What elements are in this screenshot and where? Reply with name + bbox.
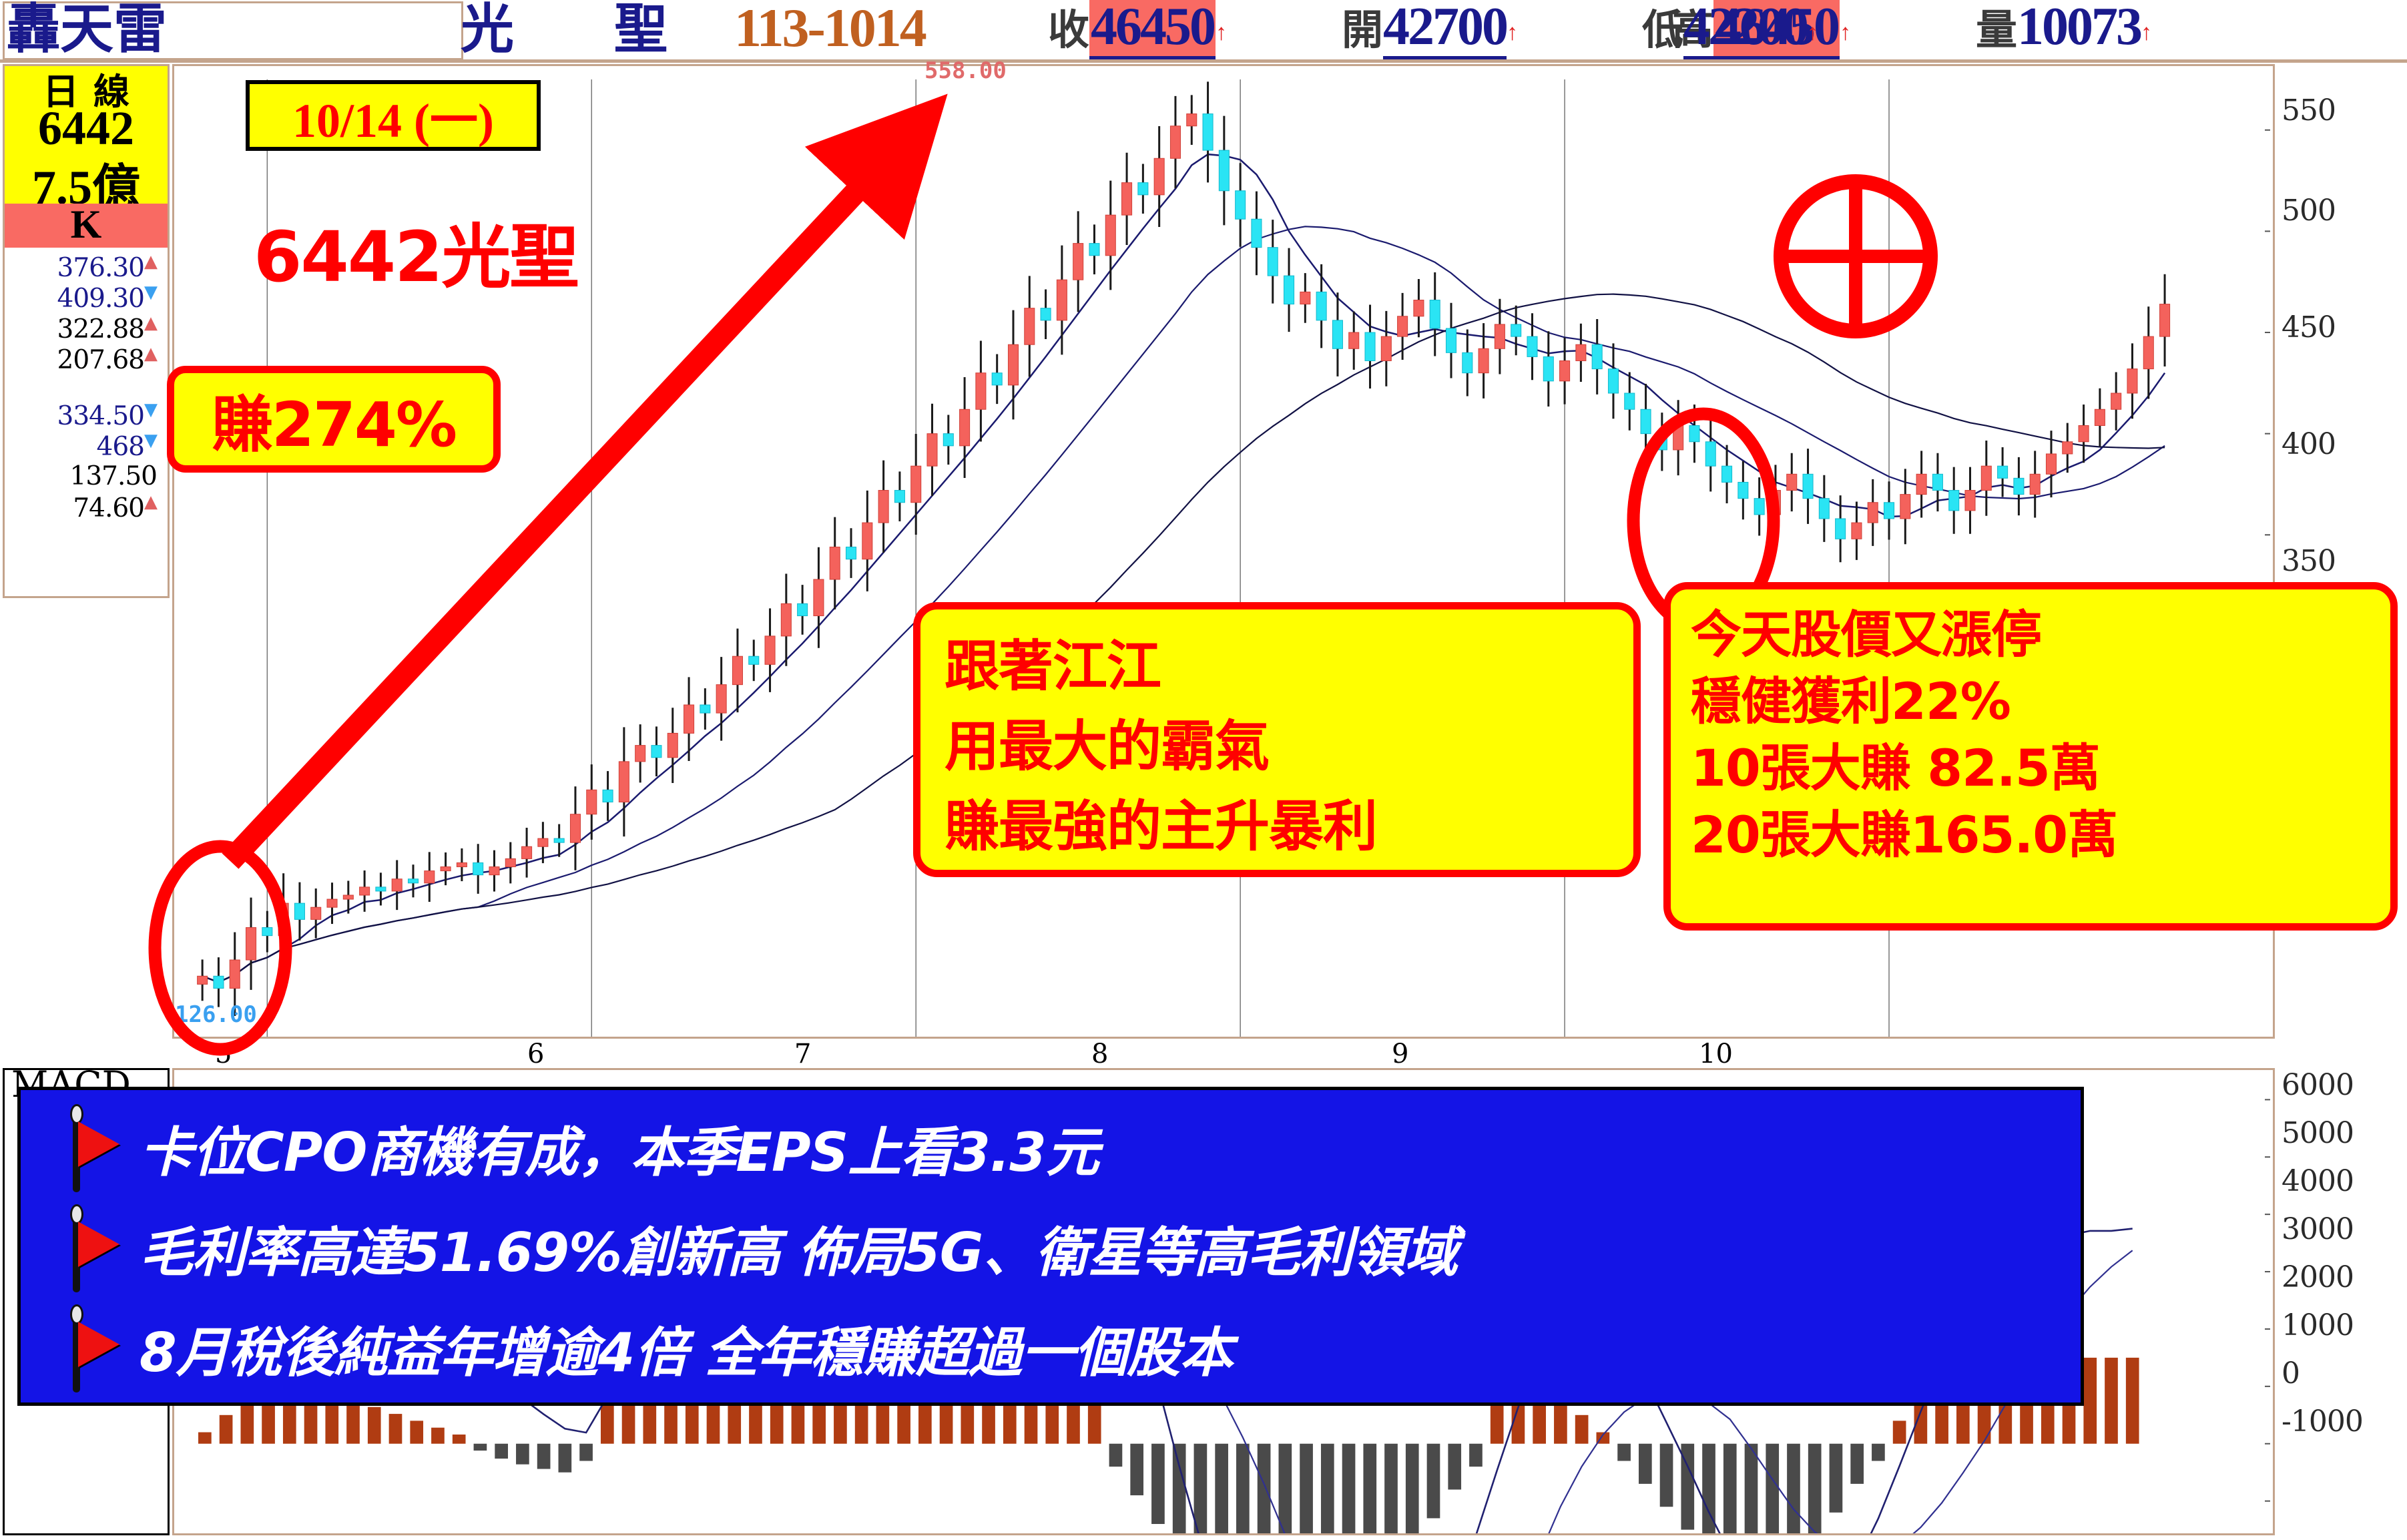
close-label: 收 [1048, 5, 1089, 54]
panel-value-row: 322.88▲ [5, 313, 157, 344]
y-tick-450: 450 [2282, 310, 2336, 344]
macd-y-tick-2000: 2000 [2282, 1260, 2354, 1294]
slogan-callout-box: 跟著江江 用最大的霸氣 賺最強的主升暴利 [913, 602, 1641, 877]
panel-value-row: 468▼ [5, 431, 157, 462]
slogan-line: 跟著江江 [945, 627, 1633, 707]
macd-y-tick-5000: 5000 [2282, 1116, 2354, 1150]
up-arrow-icon: ▲ [144, 252, 157, 272]
panel-value: 334.50 [57, 401, 144, 431]
ticker-name-secondary: 光 [461, 0, 514, 60]
panel-value-row: 207.68▲ [5, 344, 157, 375]
total-gain-text: 賺274% [212, 375, 456, 464]
open-up-arrow-icon: ↑ [1507, 21, 1518, 45]
header-bar: 轟天雷 光 聖 113-1014 收46450↑ 開42700↑ 高46450↑… [0, 0, 2407, 61]
panel-value-row: 334.50▼ [5, 400, 157, 431]
panel-value-row: 376.30▲ [5, 252, 157, 283]
y-tick-550: 550 [2282, 93, 2336, 127]
up-arrow-icon: ▲ [144, 344, 157, 364]
x-tick-6: 6 [527, 1039, 544, 1069]
profit-line: 20張大賺165.0萬 [1691, 802, 2390, 868]
volume-value: 10073 [2017, 0, 2141, 56]
x-tick-5: 5 [215, 1039, 232, 1069]
low-value: 42200 [1683, 0, 1807, 61]
red-flag-icon [55, 1304, 130, 1392]
y-tick-400: 400 [2282, 427, 2336, 461]
ticker-name-primary: 轟天雷 [7, 0, 167, 60]
ticker-name-tertiary: 聖 [614, 0, 667, 60]
low-up-arrow-icon: ↑ [1807, 21, 1818, 45]
news-text: 毛利率高達51.69%創新高 佈局5G、衛星等高毛利領域 [140, 1210, 1457, 1287]
total-gain-badge: 賺274% [167, 366, 501, 473]
red-flag-icon [55, 1204, 130, 1292]
open-label: 開 [1342, 5, 1383, 54]
news-item: 卡位CPO商機有成，本季EPS上看3.3元 [21, 1098, 2081, 1198]
x-tick-10: 10 [1699, 1039, 1733, 1069]
volume-label: 量 [1976, 5, 2017, 54]
up-arrow-icon: ▲ [144, 492, 157, 512]
macd-y-tick-3000: 3000 [2282, 1212, 2354, 1246]
high-up-arrow-icon: ↑ [1840, 21, 1851, 45]
header-divider [0, 59, 2407, 63]
panel-value: 137.50 [70, 461, 157, 491]
x-tick-7: 7 [794, 1039, 811, 1069]
header-date-code: 113-1014 [734, 0, 925, 59]
macd-y-tick-4000: 4000 [2282, 1164, 2354, 1198]
down-arrow-icon: ▼ [144, 431, 157, 451]
macd-y-tick-neg1000: -1000 [2282, 1404, 2363, 1439]
close-up-arrow-icon: ↑ [1216, 21, 1227, 45]
date-badge-text: 10/14 (一) [292, 81, 494, 151]
indicator-k-badge[interactable]: K [5, 204, 168, 248]
profit-line: 穩健獲利22% [1691, 668, 2390, 735]
slogan-line: 用最大的霸氣 [945, 707, 1633, 787]
trough-price-label: 126.00 [175, 1001, 257, 1028]
y-tick-350: 350 [2282, 544, 2336, 578]
chart-title-overlay: 6442光聖 [254, 200, 577, 301]
open-value: 42700 [1383, 0, 1507, 61]
panel-value: 322.88 [57, 314, 144, 344]
news-text: 8月稅後純益年增逾4倍 全年穩賺超過一個股本 [140, 1310, 1232, 1387]
panel-value: 207.68 [57, 345, 144, 375]
slogan-line: 賺最強的主升暴利 [945, 787, 1633, 867]
x-tick-9: 9 [1392, 1039, 1408, 1069]
down-arrow-icon: ▼ [144, 400, 157, 420]
low-label: 低 [1642, 5, 1683, 54]
panel-value: 468 [97, 432, 144, 462]
panel-value-row: 409.30▼ [5, 282, 157, 314]
news-text: 卡位CPO商機有成，本季EPS上看3.3元 [140, 1109, 1099, 1187]
close-value: 46450 [1089, 0, 1216, 61]
panel-value: 74.60 [73, 493, 144, 523]
news-item: 毛利率高達51.69%創新高 佈局5G、衛星等高毛利領域 [21, 1198, 2081, 1298]
panel-value: 409.30 [57, 284, 144, 314]
peak-price-label: 558.00 [924, 57, 1007, 84]
profit-line: 今天股價又漲停 [1691, 601, 2390, 668]
macd-y-tick-0: 0 [2282, 1356, 2300, 1390]
y-tick-500: 500 [2282, 194, 2336, 228]
panel-value: 376.30 [57, 253, 144, 283]
up-arrow-icon: ▲ [144, 313, 157, 333]
macd-y-tick-1000: 1000 [2282, 1308, 2354, 1342]
date-badge: 10/14 (一) [246, 80, 541, 151]
macd-y-tick-6000: 6000 [2282, 1068, 2354, 1102]
left-info-panel: 日線 6442 7.5億 K 376.30▲ 409.30▼ 322.88▲ 2… [3, 64, 170, 598]
news-item: 8月稅後純益年增逾4倍 全年穩賺超過一個股本 [21, 1298, 2081, 1398]
red-flag-icon [55, 1104, 130, 1192]
panel-value-row: 137.50 [5, 461, 157, 491]
panel-value-row: 74.60▲ [5, 492, 157, 523]
profit-line: 10張大賺 82.5萬 [1691, 735, 2390, 802]
profit-summary-box: 今天股價又漲停 穩健獲利22% 10張大賺 82.5萬 20張大賺165.0萬 [1663, 582, 2398, 931]
x-tick-8: 8 [1091, 1039, 1108, 1069]
volume-up-arrow-icon: ↑ [2141, 21, 2152, 45]
down-arrow-icon: ▼ [144, 282, 157, 302]
news-banner: 卡位CPO商機有成，本季EPS上看3.3元 毛利率高達51.69%創新高 佈局5… [17, 1087, 2084, 1406]
